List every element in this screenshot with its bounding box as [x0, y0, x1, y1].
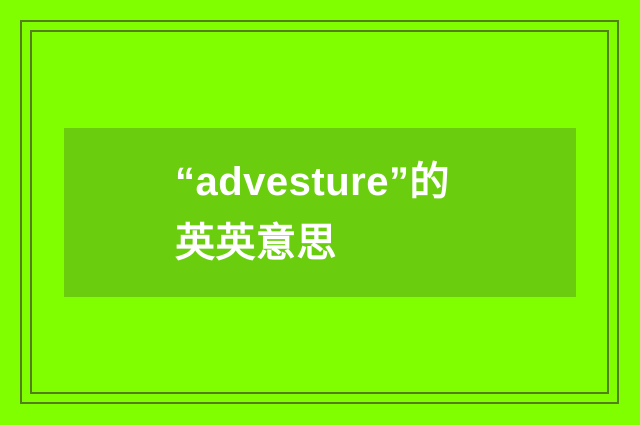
page-title: “advesture”的英英意思: [175, 152, 465, 274]
title-panel: “advesture”的英英意思: [64, 128, 576, 297]
image-canvas: “advesture”的英英意思: [0, 0, 640, 425]
